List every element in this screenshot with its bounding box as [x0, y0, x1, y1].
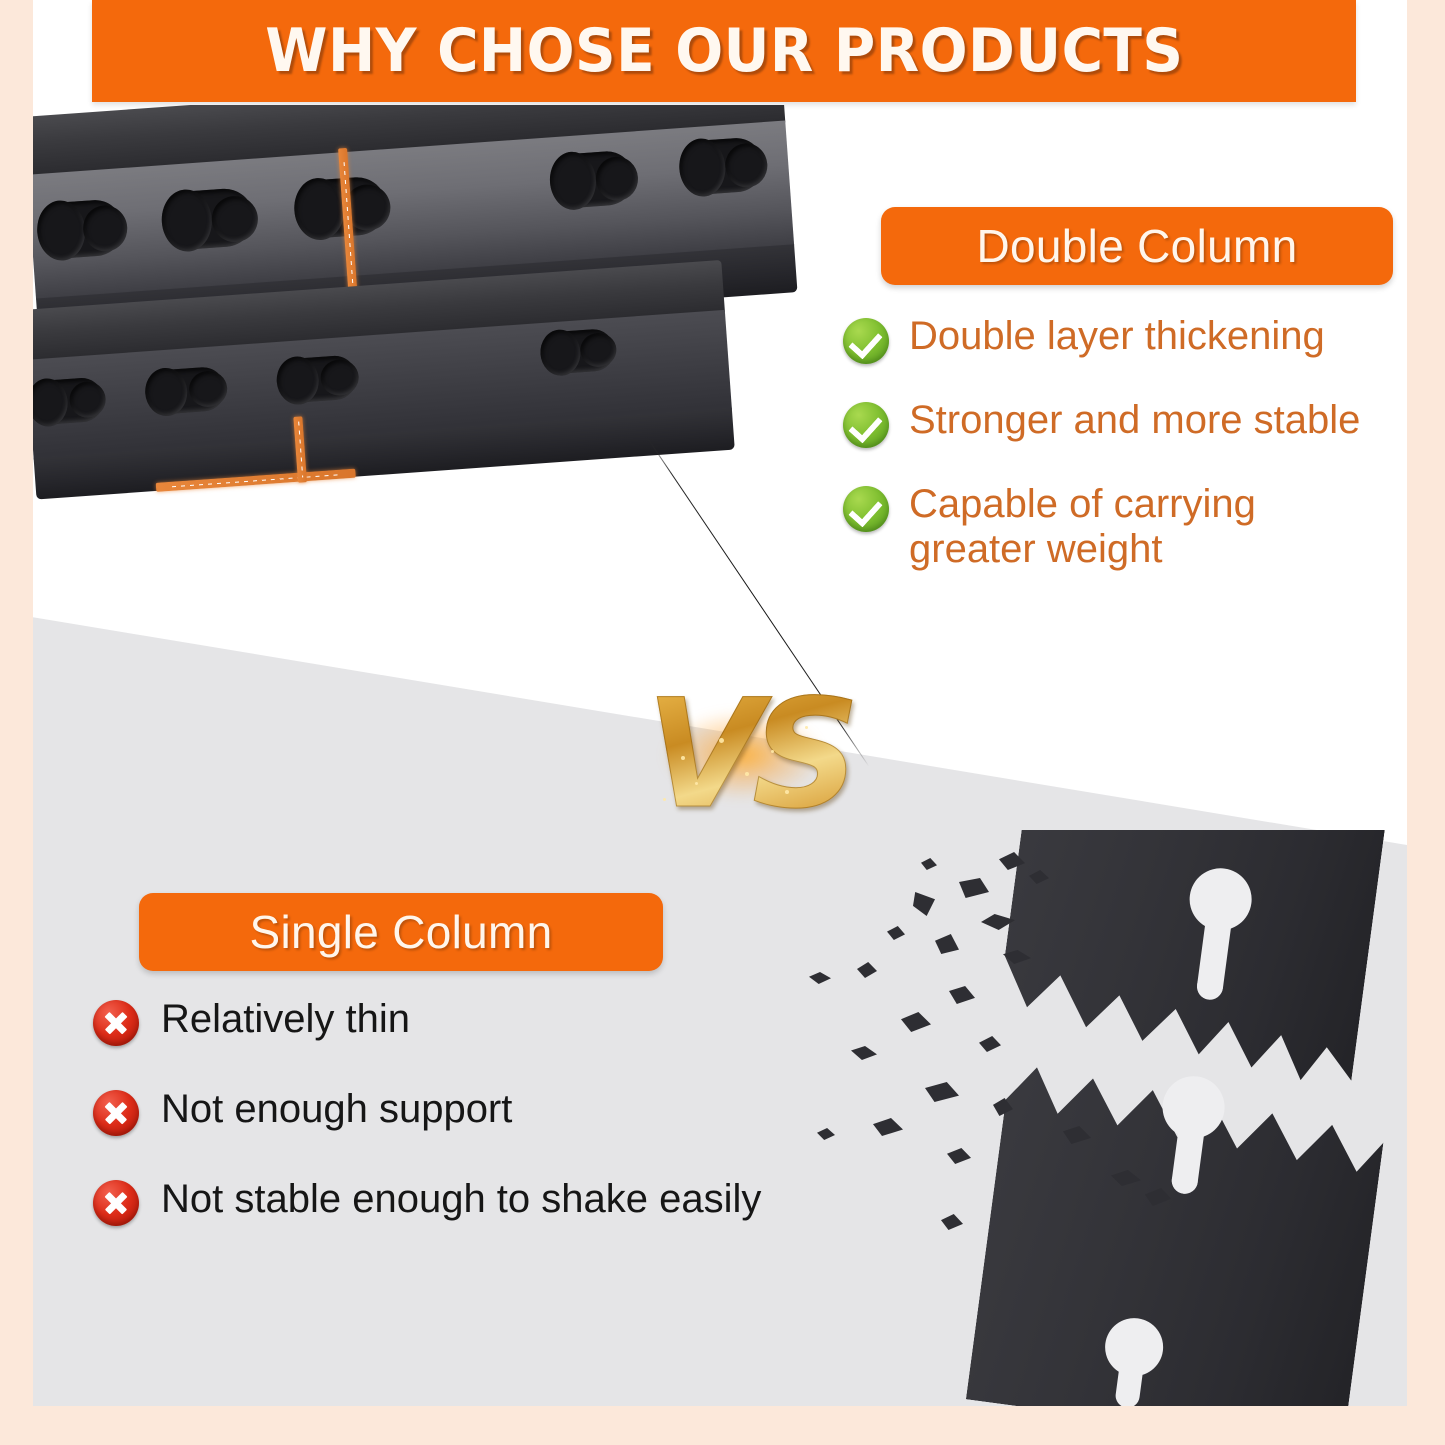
- check-circle-icon: [843, 318, 889, 364]
- keyhole-slot: [1097, 1315, 1166, 1406]
- beam-slot: [33, 377, 105, 426]
- debris-fragment: [913, 892, 935, 916]
- pros-item-label: Stronger and more stable: [909, 398, 1360, 443]
- debris-fragment: [857, 962, 877, 978]
- pros-item-label: Capable of carrying greater weight: [909, 482, 1256, 572]
- page-title: WHY CHOSE OUR PRODUCTS: [265, 16, 1183, 86]
- spark-dot: [681, 756, 685, 760]
- content-canvas: VS Double Column Double layer thickening…: [33, 0, 1407, 1406]
- check-circle-icon: [843, 402, 889, 448]
- pros-list: Double layer thickening Stronger and mor…: [843, 318, 1407, 610]
- spark-dot: [785, 790, 789, 794]
- double-column-title-label: Double Column: [977, 219, 1298, 273]
- cross-circle-icon: [93, 1000, 139, 1046]
- debris-fragment: [979, 1036, 1001, 1052]
- beam-slot: [146, 366, 227, 415]
- beam-slot: [552, 150, 636, 210]
- debris-fragment: [925, 1082, 959, 1102]
- pros-item-label: Double layer thickening: [909, 314, 1325, 359]
- versus-emblem: VS: [633, 640, 863, 870]
- single-column-title-label: Single Column: [249, 905, 552, 959]
- debris-fragment: [887, 926, 905, 940]
- beam-slot: [164, 187, 256, 251]
- list-item: Not stable enough to shake easily: [93, 1180, 893, 1226]
- beam-slot: [681, 136, 765, 196]
- double-column-title-pill: Double Column: [881, 207, 1393, 285]
- spark-dot: [695, 782, 698, 785]
- cross-circle-icon: [93, 1180, 139, 1226]
- single-column-title-pill: Single Column: [139, 893, 663, 971]
- debris-fragment: [949, 986, 975, 1004]
- beam-slot: [39, 198, 125, 260]
- versus-label: VS: [633, 640, 863, 870]
- beam-slot: [541, 328, 616, 375]
- list-item: Capable of carrying greater weight: [843, 486, 1407, 572]
- debris-fragment: [959, 878, 989, 898]
- beam-slot: [277, 354, 358, 403]
- spark-dot: [663, 798, 666, 801]
- cons-item-label: Relatively thin: [161, 997, 410, 1042]
- page-frame: VS Double Column Double layer thickening…: [0, 0, 1445, 1445]
- debris-fragment: [935, 934, 959, 954]
- debris-fragment: [921, 858, 937, 870]
- spark-dot: [745, 772, 749, 776]
- cross-circle-icon: [93, 1090, 139, 1136]
- spark-dot: [719, 738, 724, 743]
- spark-dot: [771, 750, 774, 753]
- debris-fragment: [947, 1148, 971, 1164]
- list-item: Not enough support: [93, 1090, 893, 1136]
- cons-item-label: Not enough support: [161, 1087, 512, 1132]
- debris-fragment: [901, 1012, 931, 1032]
- cons-item-label: Not stable enough to shake easily: [161, 1177, 761, 1222]
- debris-fragment: [809, 972, 831, 984]
- double-column-steel-beam-photo: [33, 105, 823, 565]
- header-banner: WHY CHOSE OUR PRODUCTS: [92, 0, 1356, 102]
- debris-fragment: [941, 1214, 963, 1230]
- spark-dot: [805, 726, 808, 729]
- check-circle-icon: [843, 486, 889, 532]
- list-item: Relatively thin: [93, 1000, 893, 1046]
- cons-list: Relatively thin Not enough support Not s…: [93, 1000, 893, 1270]
- list-item: Stronger and more stable: [843, 402, 1407, 448]
- list-item: Double layer thickening: [843, 318, 1407, 364]
